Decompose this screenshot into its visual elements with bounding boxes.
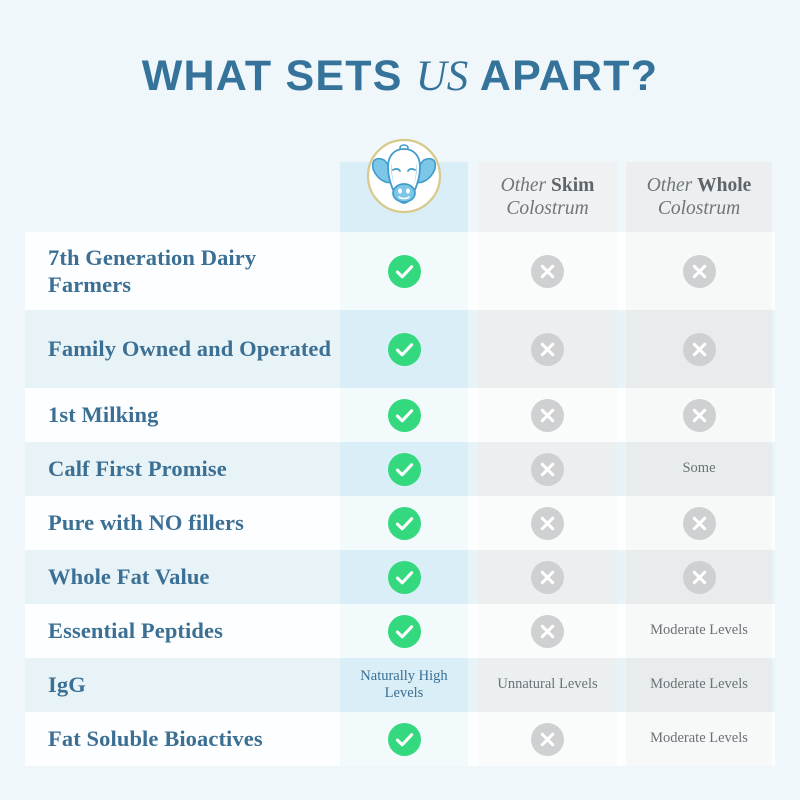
- check-icon: [388, 723, 421, 756]
- table-cell: [478, 604, 617, 658]
- table-header-row: Other Skim Colostrum Other Whole Colostr…: [0, 140, 800, 232]
- row-label: Family Owned and Operated: [48, 310, 338, 388]
- table-cell: [478, 496, 617, 550]
- column-header-other-skim-second: Colostrum: [501, 197, 595, 220]
- cross-icon: [531, 255, 564, 288]
- row-label: 7th Generation Dairy Farmers: [48, 232, 338, 310]
- cross-icon: [683, 399, 716, 432]
- column-header-other-whole-second: Colostrum: [647, 197, 752, 220]
- table-cell: Some: [626, 442, 772, 496]
- table-cell: [626, 310, 772, 388]
- table-row: Calf First PromiseSome: [0, 442, 800, 496]
- table-cell: Moderate Levels: [626, 712, 772, 766]
- row-label: Fat Soluble Bioactives: [48, 712, 338, 766]
- cow-head-logo-icon: [362, 134, 446, 218]
- table-row: 7th Generation Dairy Farmers: [0, 232, 800, 310]
- row-label: Pure with NO fillers: [48, 496, 338, 550]
- page-title-emphasis: US: [416, 53, 469, 100]
- table-row: 1st Milking: [0, 388, 800, 442]
- cross-icon: [531, 561, 564, 594]
- cell-text: Unnatural Levels: [497, 676, 597, 693]
- cross-icon: [531, 399, 564, 432]
- column-header-other-skim: Other Skim Colostrum: [478, 162, 617, 232]
- column-header-other-skim-strong: Skim: [551, 175, 594, 196]
- cross-icon: [531, 507, 564, 540]
- table-cell: [626, 550, 772, 604]
- table-cell: [478, 442, 617, 496]
- row-label: Calf First Promise: [48, 442, 338, 496]
- table-cell: [626, 388, 772, 442]
- table-row: Fat Soluble BioactivesModerate Levels: [0, 712, 800, 766]
- cross-icon: [531, 615, 564, 648]
- row-label: IgG: [48, 658, 338, 712]
- cross-icon: [683, 333, 716, 366]
- cross-icon: [531, 453, 564, 486]
- table-row: Family Owned and Operated: [0, 310, 800, 388]
- comparison-infographic: WHAT SETS US APART?: [0, 0, 800, 800]
- table-cell: [478, 232, 617, 310]
- table-cell: [340, 232, 468, 310]
- cross-icon: [683, 507, 716, 540]
- cell-text: Moderate Levels: [650, 676, 748, 693]
- check-icon: [388, 453, 421, 486]
- table-cell: [340, 388, 468, 442]
- cross-icon: [531, 723, 564, 756]
- row-label: 1st Milking: [48, 388, 338, 442]
- table-cell: [478, 310, 617, 388]
- column-header-other-whole-strong: Whole: [697, 175, 751, 196]
- table-row: IgGNaturally High LevelsUnnatural Levels…: [0, 658, 800, 712]
- cell-text: Some: [682, 460, 715, 477]
- cell-text: Moderate Levels: [650, 730, 748, 747]
- table-row: Essential PeptidesModerate Levels: [0, 604, 800, 658]
- column-header-other-whole-prefix: Other: [647, 175, 697, 196]
- comparison-table: Other Skim Colostrum Other Whole Colostr…: [0, 140, 800, 766]
- column-header-other-skim-label: Other Skim Colostrum: [501, 174, 595, 220]
- table-cell: [626, 496, 772, 550]
- table-cell: [340, 550, 468, 604]
- row-label: Essential Peptides: [48, 604, 338, 658]
- cross-icon: [683, 255, 716, 288]
- table-cell: [340, 442, 468, 496]
- cell-text: Naturally High Levels: [340, 668, 468, 703]
- row-label: Whole Fat Value: [48, 550, 338, 604]
- table-cell: [478, 388, 617, 442]
- page-title-post: APART?: [468, 52, 658, 100]
- check-icon: [388, 615, 421, 648]
- column-header-other-whole-label: Other Whole Colostrum: [647, 174, 752, 220]
- table-body: 7th Generation Dairy FarmersFamily Owned…: [0, 232, 800, 766]
- cross-icon: [531, 333, 564, 366]
- table-cell: Moderate Levels: [626, 604, 772, 658]
- table-cell: [478, 712, 617, 766]
- table-cell: [626, 232, 772, 310]
- table-cell: [340, 496, 468, 550]
- column-header-other-skim-prefix: Other: [501, 175, 551, 196]
- page-title-pre: WHAT SETS: [142, 52, 416, 100]
- table-cell: [478, 550, 617, 604]
- check-icon: [388, 561, 421, 594]
- page-title: WHAT SETS US APART?: [0, 52, 800, 101]
- table-row: Whole Fat Value: [0, 550, 800, 604]
- check-icon: [388, 399, 421, 432]
- check-icon: [388, 255, 421, 288]
- check-icon: [388, 333, 421, 366]
- table-cell: Naturally High Levels: [340, 658, 468, 712]
- check-icon: [388, 507, 421, 540]
- cross-icon: [683, 561, 716, 594]
- table-row: Pure with NO fillers: [0, 496, 800, 550]
- column-header-other-whole: Other Whole Colostrum: [626, 162, 772, 232]
- table-cell: [340, 712, 468, 766]
- table-cell: Unnatural Levels: [478, 658, 617, 712]
- table-cell: [340, 310, 468, 388]
- table-cell: Moderate Levels: [626, 658, 772, 712]
- cell-text: Moderate Levels: [650, 622, 748, 639]
- table-cell: [340, 604, 468, 658]
